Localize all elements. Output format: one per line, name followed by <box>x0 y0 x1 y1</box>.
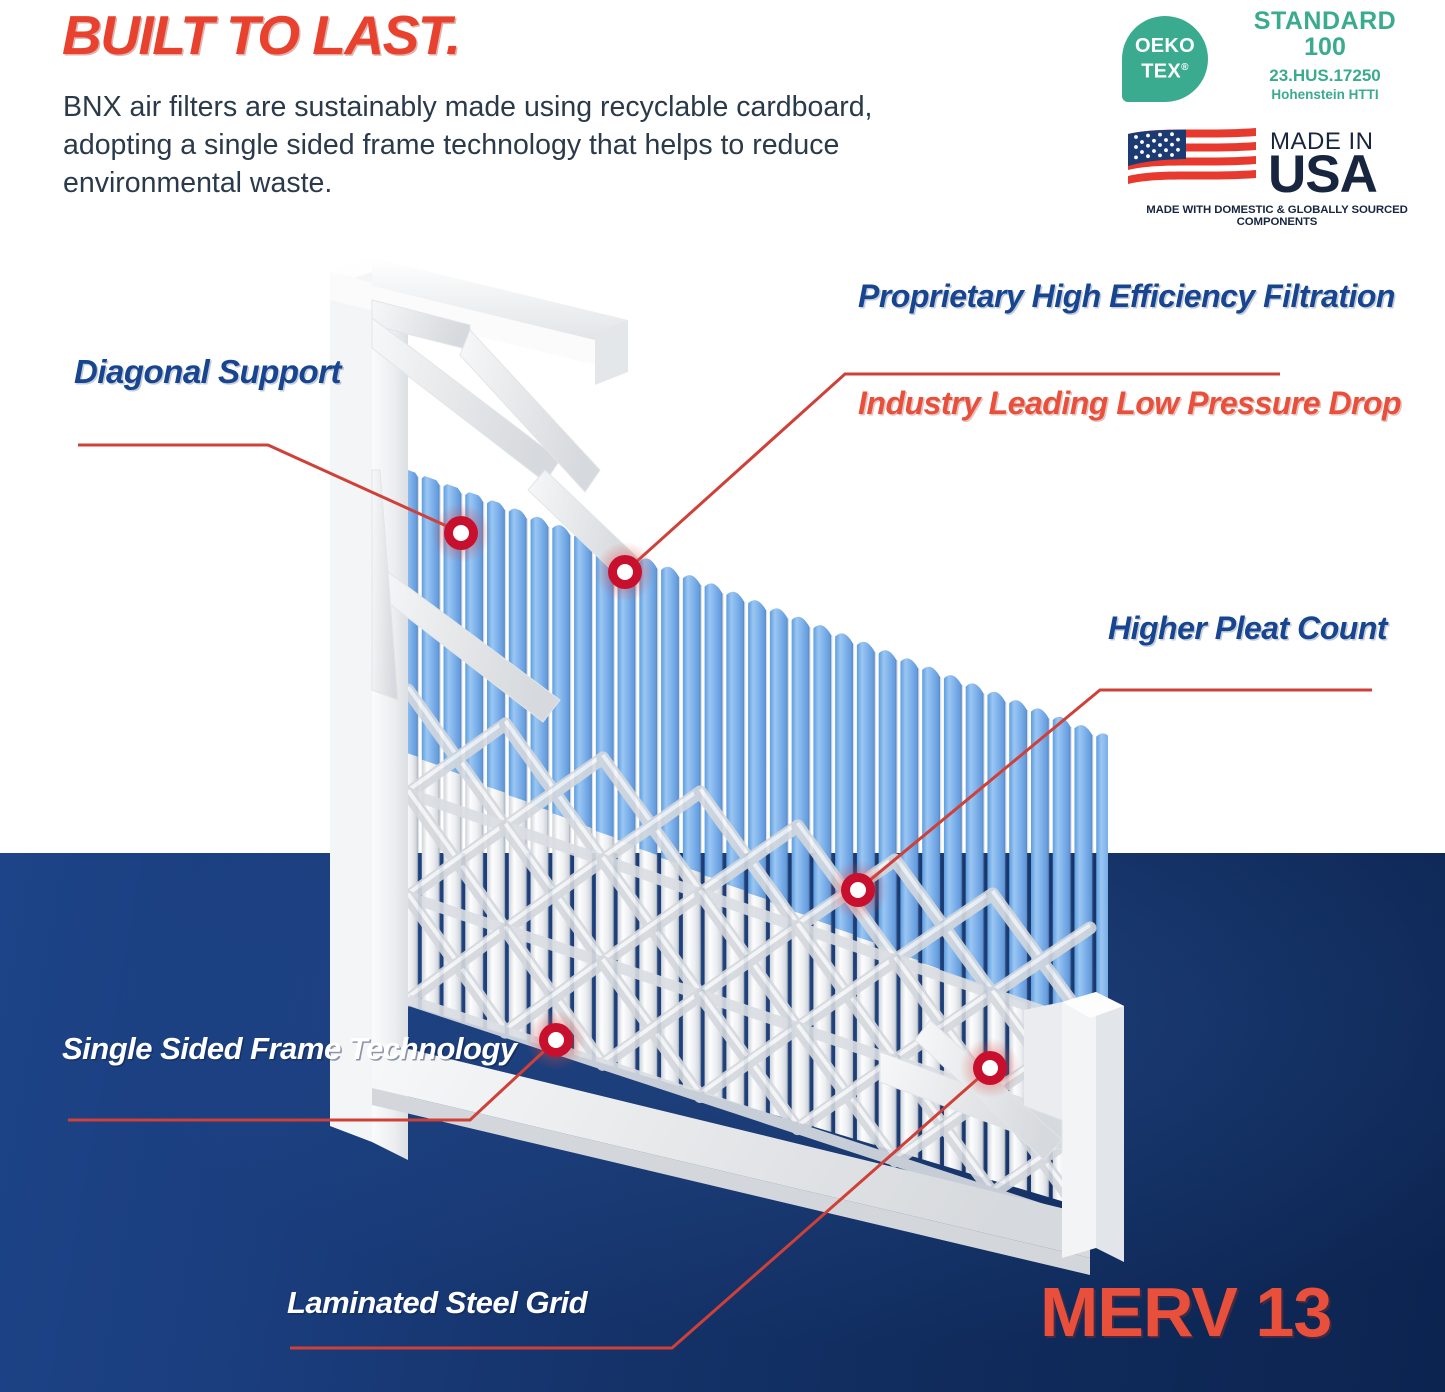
usa-label: USA <box>1268 148 1377 202</box>
callout-laminated-steel-grid: Laminated Steel Grid <box>287 1284 587 1321</box>
marker-diagonal-support <box>431 503 491 563</box>
callout-proprietary-filtration: Proprietary High Efficiency Filtration <box>858 278 1395 315</box>
page-headline: BUILT TO LAST. <box>62 6 460 64</box>
oeko-certificate-code: 23.HUS.17250 <box>1220 65 1430 87</box>
leader-diagonal-support <box>78 445 462 533</box>
callout-low-pressure-drop: Industry Leading Low Pressure Drop <box>858 385 1401 422</box>
callout-diagonal-support: Diagonal Support <box>74 352 341 392</box>
oeko-tex-badge: OEKO TEX® STANDARD 100 23.HUS.17250 Hohe… <box>1122 8 1432 108</box>
oeko-tex-text-block: STANDARD 100 23.HUS.17250 Hohenstein HTT… <box>1220 8 1430 103</box>
callout-higher-pleat-count: Higher Pleat Count <box>1108 610 1387 647</box>
oeko-mark-line1: OEKO <box>1135 36 1195 57</box>
filter-frame-top-rail <box>330 258 628 385</box>
oeko-tex-mark-icon: OEKO TEX® <box>1122 16 1208 102</box>
infographic-root: BUILT TO LAST. BNX air filters are susta… <box>0 0 1445 1392</box>
callout-single-sided-frame: Single Sided Frame Technology <box>62 1030 517 1067</box>
oeko-institute-label: Hohenstein HTTI <box>1220 87 1430 103</box>
oeko-standard-label: STANDARD <box>1220 8 1430 34</box>
oeko-standard-number: 100 <box>1220 34 1430 61</box>
usa-flag-icon <box>1128 126 1256 192</box>
oeko-mark-line2: TEX® <box>1141 57 1188 83</box>
marker-high-efficiency <box>595 542 655 602</box>
made-in-usa-badge: MADE IN USA MADE WITH DOMESTIC & GLOBALL… <box>1122 124 1432 220</box>
merv-rating-badge: MERV 13 <box>1040 1272 1331 1352</box>
usa-disclaimer: MADE WITH DOMESTIC & GLOBALLY SOURCED CO… <box>1124 204 1430 228</box>
page-subcopy: BNX air filters are sustainably made usi… <box>63 88 893 202</box>
diagonal-support-truss <box>372 300 640 722</box>
